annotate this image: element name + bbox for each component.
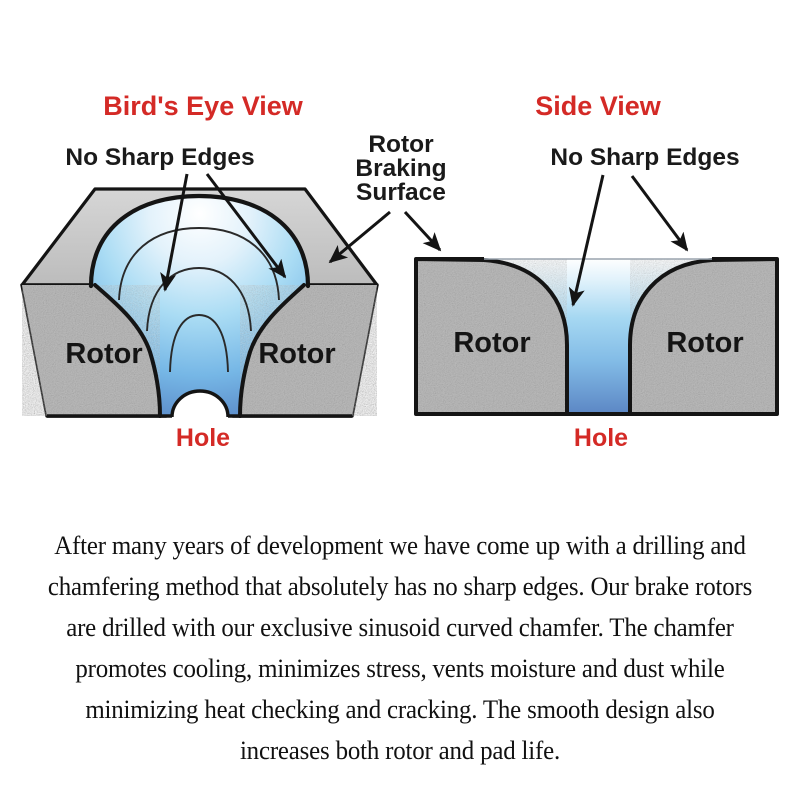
right-rotor-label-left: Rotor (453, 327, 530, 359)
left-hole-label: Hole (176, 424, 230, 452)
braking-surface-line-2: Braking (355, 155, 446, 182)
left-view-title: Bird's Eye View (103, 91, 304, 121)
right-view-title: Side View (535, 91, 662, 121)
left-rotor-label-right: Rotor (258, 338, 335, 370)
description-paragraph-wrapper: After many years of development we have … (24, 525, 776, 771)
right-rotor-label-right: Rotor (666, 327, 743, 359)
braking-surface-line-1: Rotor (368, 131, 434, 158)
left-rotor-label-left: Rotor (65, 338, 142, 370)
side-hole-column (560, 258, 638, 415)
braking-surface-line-3: Surface (356, 179, 446, 206)
description-paragraph: After many years of development we have … (24, 525, 776, 771)
right-no-sharp-edges-label: No Sharp Edges (550, 144, 739, 171)
rotor-braking-surface-label: Rotor Braking Surface (355, 131, 446, 206)
left-no-sharp-edges-label: No Sharp Edges (65, 144, 254, 171)
right-hole-label: Hole (574, 424, 628, 452)
